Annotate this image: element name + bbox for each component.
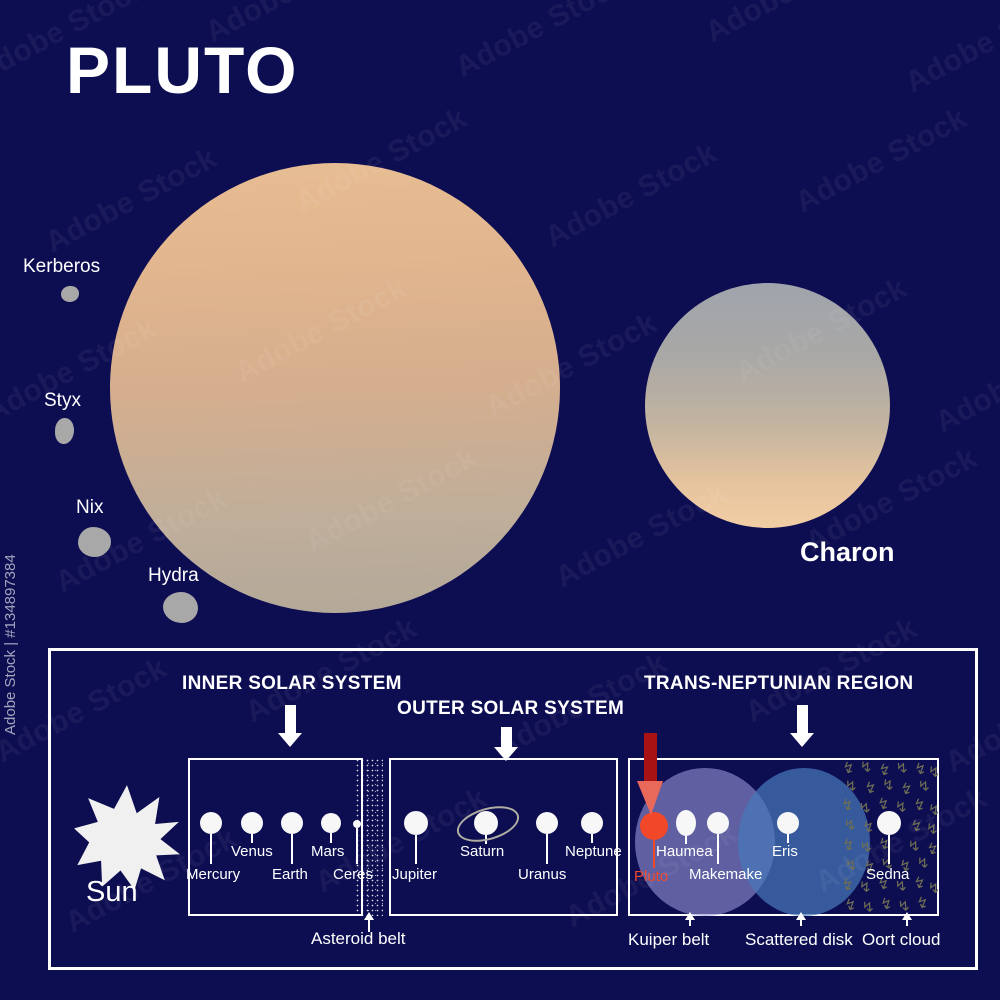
dwarf-planet-eris-label: Eris — [772, 843, 798, 860]
dwarf-planet-ceres-label: Ceres — [333, 866, 373, 883]
planet-jupiter-label: Jupiter — [392, 866, 437, 883]
dwarf-planet-sedna-dot — [877, 811, 901, 835]
asteroid-belt-caption: Asteroid belt — [311, 929, 406, 949]
scattered-disk-caption-stem — [800, 918, 802, 926]
kuiper-belt-caption-stem — [689, 918, 691, 926]
dwarf-planet-eris-stem — [787, 834, 789, 843]
charon-label: Charon — [800, 537, 895, 568]
dwarf-planet-ceres-dot — [353, 820, 361, 828]
planet-neptune-label: Neptune — [565, 843, 622, 860]
planet-venus-stem — [251, 834, 253, 843]
moon-styx-dot — [55, 418, 74, 444]
planet-mercury-label: Mercury — [186, 866, 240, 883]
scattered-disk-caption: Scattered disk — [745, 930, 853, 950]
planet-earth-label: Earth — [272, 866, 308, 883]
watermark-text: Adobe Stock — [540, 136, 723, 255]
oort-cloud-caption: Oort cloud — [862, 930, 940, 950]
dwarf-planet-makemake-label: Makemake — [689, 866, 762, 883]
inner-solar-system-box — [188, 758, 363, 916]
planet-uranus-label: Uranus — [518, 866, 566, 883]
dwarf-planet-ceres-stem — [356, 828, 358, 864]
dwarf-planet-haumea-label: Haumea — [656, 843, 713, 860]
pluto-highlight-arrow-icon — [637, 733, 663, 829]
watermark-text: Adobe Stock — [900, 0, 1000, 100]
planet-mars-label: Mars — [311, 843, 344, 860]
watermark-stock-id: Adobe Stock | #134897384 — [2, 554, 19, 735]
outer-region-arrow-icon — [494, 727, 519, 763]
planet-mars-stem — [330, 833, 332, 843]
planet-jupiter-dot — [404, 811, 428, 835]
planet-uranus-stem — [546, 834, 548, 864]
planet-earth-stem — [291, 834, 293, 864]
sun-label: Sun — [86, 876, 138, 909]
dwarf-planet-eris-dot — [777, 812, 799, 834]
dwarf-planet-sedna-stem — [888, 835, 890, 864]
planet-earth-dot — [281, 812, 303, 834]
moon-styx-label: Styx — [44, 390, 81, 412]
outer-solar-system-box — [389, 758, 618, 916]
moon-kerberos-label: Kerberos — [23, 256, 100, 278]
moon-kerberos-dot — [61, 286, 79, 302]
moon-nix-dot — [78, 527, 111, 557]
moon-hydra-label: Hydra — [148, 565, 199, 587]
pluto-planet-image — [110, 163, 560, 613]
planet-neptune-stem — [591, 834, 593, 843]
planet-neptune-dot — [581, 812, 603, 834]
planet-jupiter-stem — [415, 835, 417, 864]
charon-moon-image — [645, 283, 890, 528]
planet-uranus-dot — [536, 812, 558, 834]
planet-mercury-stem — [210, 834, 212, 864]
page-title: PLUTO — [66, 37, 298, 103]
asteroid-belt-caption-arrow-icon — [364, 912, 374, 920]
region-title-outer: OUTER SOLAR SYSTEM — [397, 698, 624, 720]
planet-venus-label: Venus — [231, 843, 273, 860]
inner-region-arrow-icon — [278, 705, 303, 747]
transneptunian-region-arrow-icon — [790, 705, 815, 747]
watermark-text: Adobe Stock — [700, 0, 883, 50]
planet-saturn-label: Saturn — [460, 843, 504, 860]
planet-mars-dot — [321, 813, 341, 833]
dwarf-planet-makemake-dot — [707, 812, 729, 834]
moon-hydra-dot — [163, 592, 198, 623]
dwarf-planet-haumea-dot — [676, 810, 696, 836]
watermark-text: Adobe Stock — [930, 321, 1000, 440]
dwarf-planet-makemake-stem — [717, 834, 719, 864]
poster-canvas: PLUTO Kerberos Styx Nix Hydra Charon INN… — [0, 0, 1000, 1000]
watermark-text: Adobe Stock — [450, 0, 633, 85]
dwarf-planet-sedna-label: Sedna — [866, 866, 909, 883]
oort-cloud-caption-stem — [906, 918, 908, 926]
planet-mercury-dot — [200, 812, 222, 834]
asteroid-belt-band — [355, 758, 383, 916]
watermark-text: Adobe Stock — [790, 101, 973, 220]
planet-venus-dot — [241, 812, 263, 834]
region-title-inner: INNER SOLAR SYSTEM — [182, 673, 402, 695]
moon-nix-label: Nix — [76, 497, 103, 519]
kuiper-belt-caption: Kuiper belt — [628, 930, 709, 950]
region-title-transneptunian: TRANS-NEPTUNIAN REGION — [644, 673, 913, 695]
sun-icon — [73, 783, 181, 891]
dwarf-planet-pluto-stem — [653, 840, 655, 868]
dwarf-planet-pluto-label: Pluto — [634, 868, 668, 885]
